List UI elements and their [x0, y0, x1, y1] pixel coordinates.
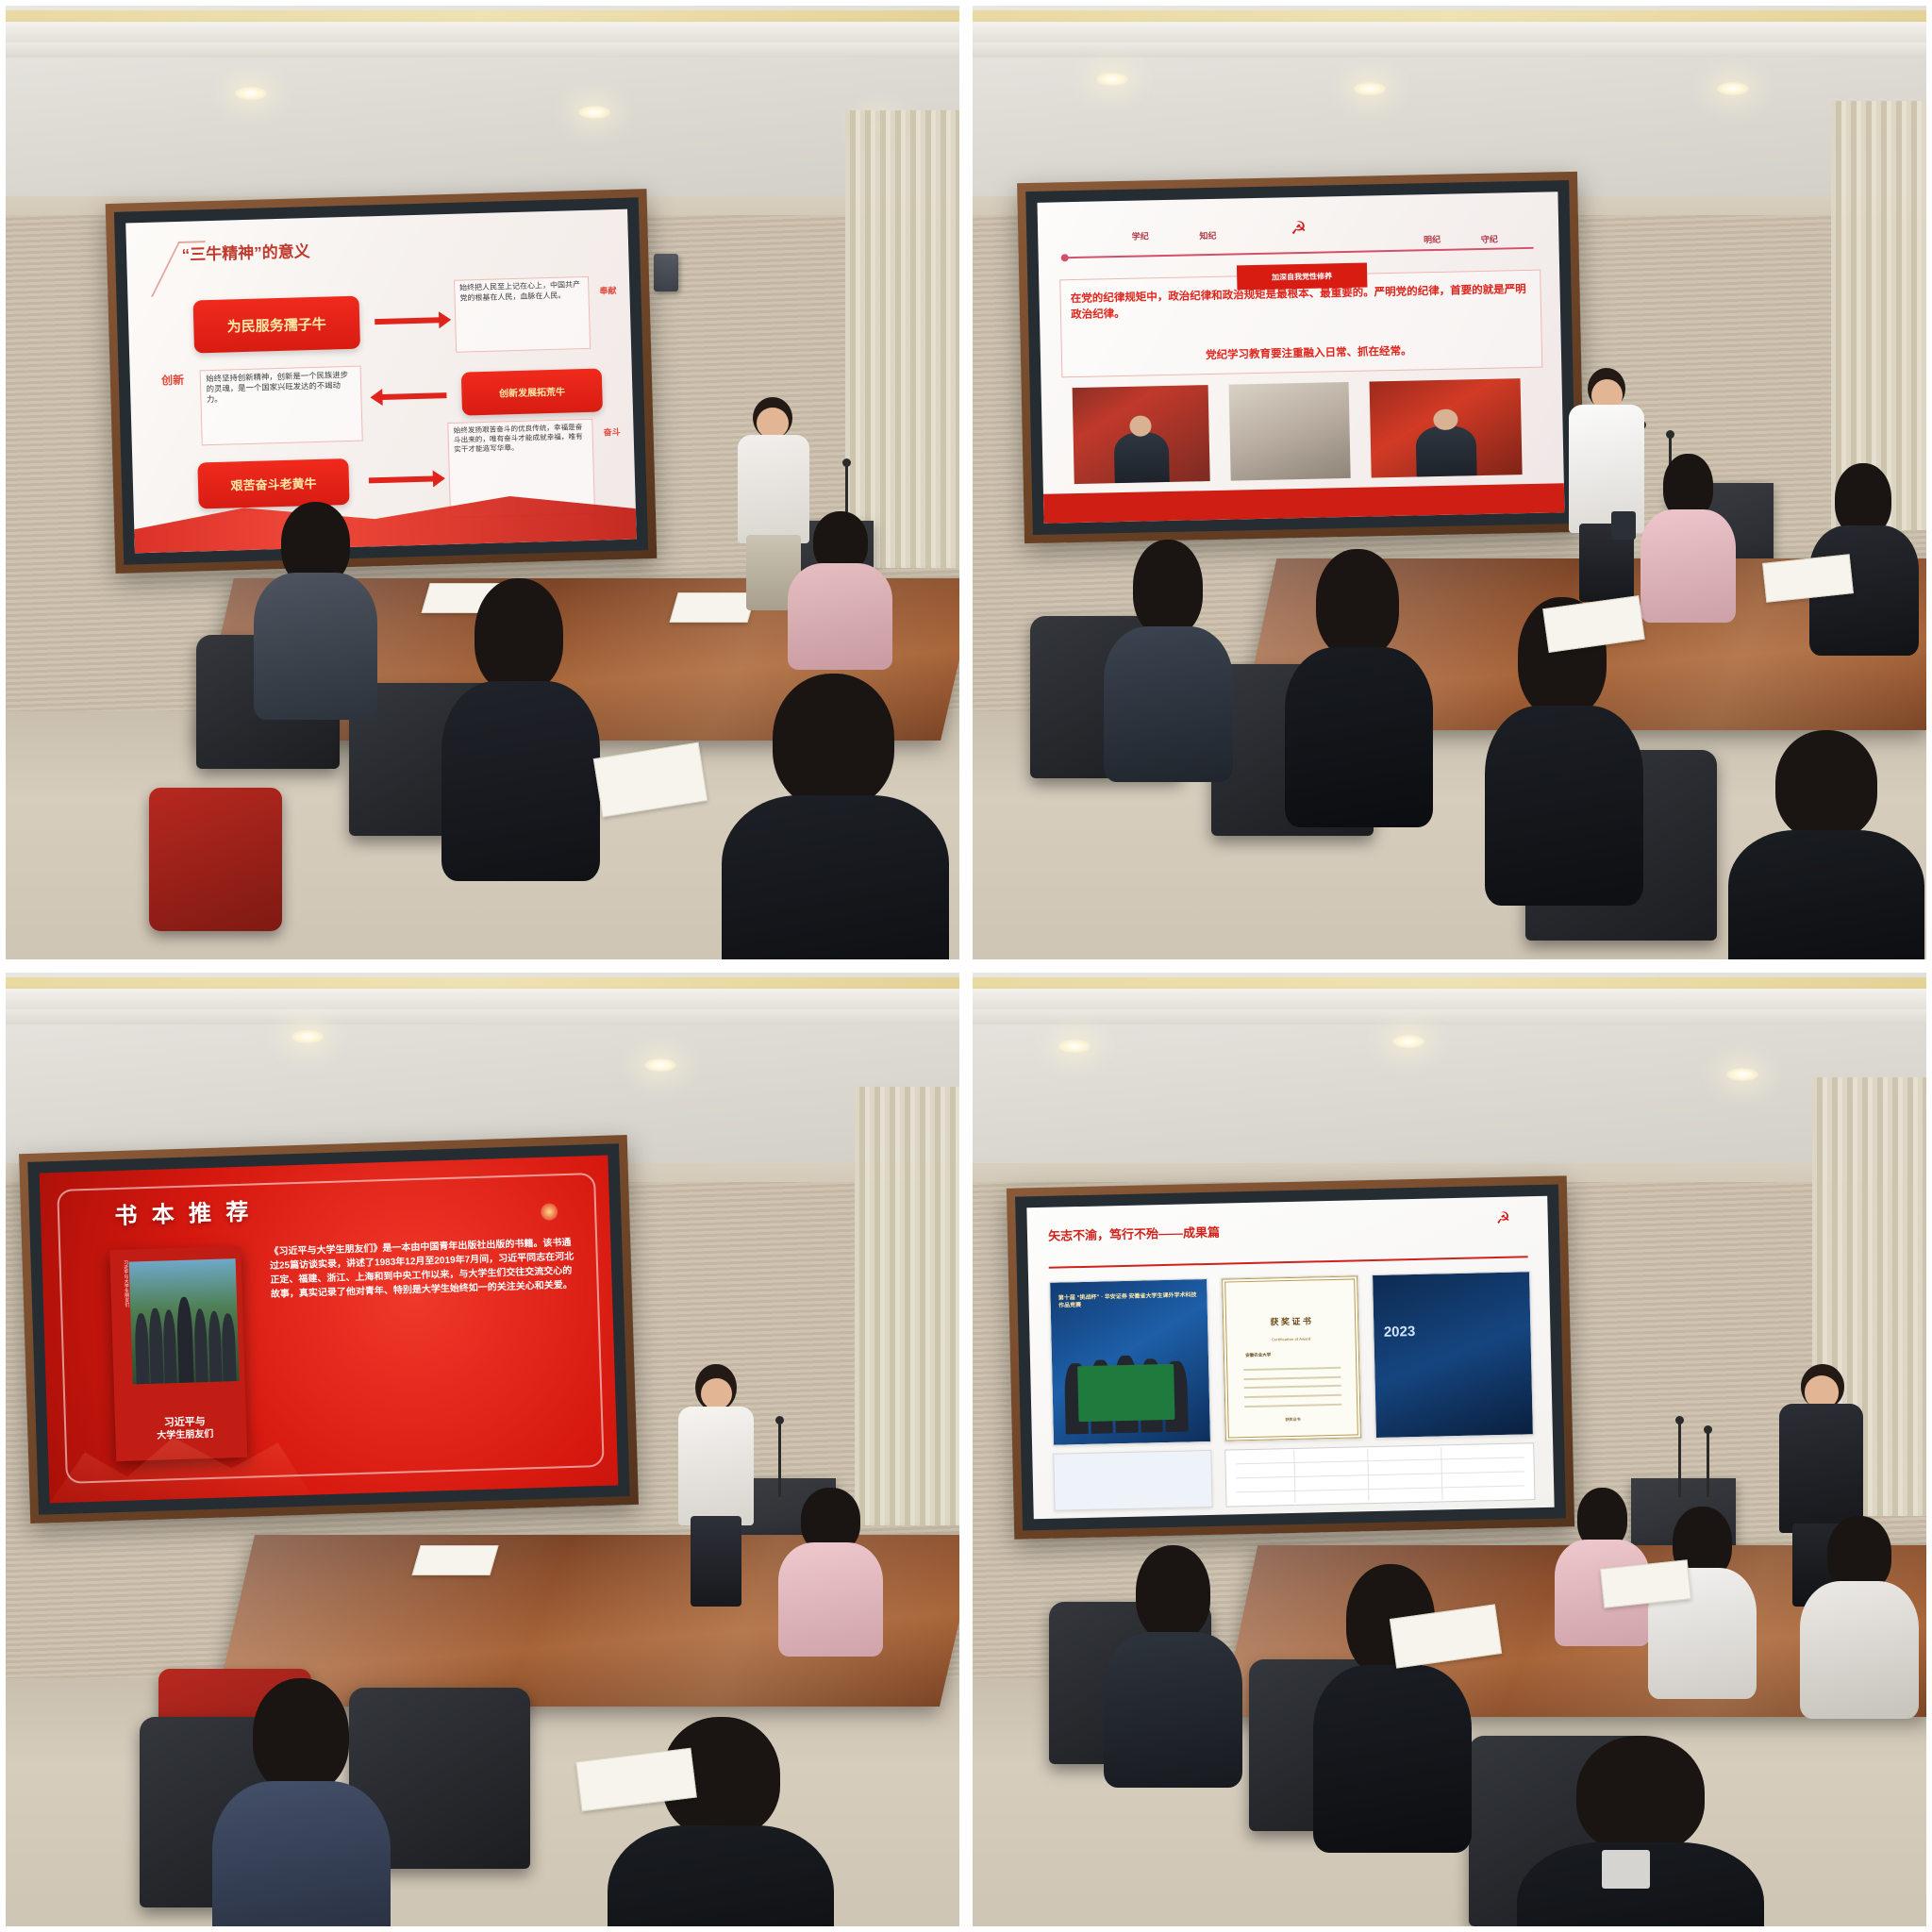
figure-icon: [176, 1297, 194, 1383]
attendee-torso: [1728, 830, 1924, 960]
attendee: [1736, 730, 1917, 959]
microphone-icon: [1678, 1421, 1681, 1497]
attendee: [616, 1717, 825, 1926]
card-3-year: 2023: [1384, 1324, 1416, 1341]
figure-icon: [1415, 425, 1476, 476]
attendee-pink: [778, 1488, 883, 1650]
achievement-table: [1225, 1442, 1536, 1507]
party-emblem-icon: ☭: [1496, 1209, 1511, 1228]
downlight-icon: [235, 87, 267, 100]
book-cover-photo: [129, 1258, 241, 1384]
ceiling-soffit: [973, 22, 1926, 44]
attendee-head: [475, 578, 563, 692]
achievement-card-3: 2023: [1373, 1272, 1535, 1439]
attendee: [1288, 549, 1431, 807]
led-screen-2: 学纪 知纪 ☭ 明纪 守纪 加深自我党性修养 在党的纪律规矩中，政治纪律和政治规…: [1017, 172, 1585, 543]
downlight-icon: [578, 106, 610, 119]
attendee-head: [1316, 549, 1399, 658]
attendee-torso: [788, 563, 892, 670]
figure-icon: [148, 1307, 163, 1384]
achievement-card-4: [1054, 1450, 1213, 1511]
downlight-icon: [1726, 1068, 1758, 1081]
attendee-head: [253, 1678, 349, 1792]
book-description: 《习近平与大学生朋友们》是一本由中国青年出版社出版的书籍。该书通过25篇访谈实录…: [270, 1236, 578, 1302]
presenter-2: [1564, 368, 1650, 597]
label-struggle: 奋斗: [604, 427, 621, 439]
attendee-torso: [608, 1825, 834, 1926]
figure-head-icon: [1433, 408, 1457, 430]
ceiling-soffit-lower: [6, 1009, 959, 1024]
card-2-title: 获 奖 证 书: [1238, 1314, 1345, 1329]
card-4-title: 获奖证书: [1240, 1416, 1347, 1424]
attendee-torso: [212, 1781, 391, 1926]
cert-line: [1244, 1404, 1341, 1407]
attendee-torso: [1800, 1581, 1919, 1719]
ceiling-soffit: [6, 22, 959, 44]
attendee-dark: [1812, 463, 1917, 644]
handheld-device: [1611, 511, 1635, 540]
cert-line: [1244, 1386, 1341, 1390]
card-2-org: 安徽农业大学: [1246, 1351, 1354, 1359]
attendee-head: [1136, 1545, 1210, 1641]
slide-3-surface: 书 本 推 荐 习近平与大学生朋友们: [40, 1156, 619, 1504]
figure-icon: [208, 1311, 223, 1383]
ceiling-soffit-lower: [973, 42, 1926, 58]
university-flag: [1077, 1365, 1175, 1423]
photo-panel-2: 学纪 知纪 ☭ 明纪 守纪 加深自我党性修养 在党的纪律规矩中，政治纪律和政治规…: [973, 6, 1926, 959]
book-cover-title: 习近平与 大学生朋友们: [128, 1415, 241, 1444]
presenter-body: [678, 1407, 754, 1525]
attendee: [730, 674, 940, 959]
figure-icon: [193, 1308, 208, 1382]
downlight-icon: [1096, 73, 1128, 86]
attendee: [1803, 1516, 1917, 1707]
curtain: [855, 1087, 959, 1525]
attendee-torso: [441, 681, 600, 881]
book-title-main: 习近平与: [164, 1416, 206, 1428]
arrow-right-1: [375, 317, 440, 325]
attendee-head: [1576, 1736, 1705, 1854]
downlight-icon: [1717, 82, 1749, 95]
title-rule: [1049, 1256, 1528, 1269]
curtain: [845, 110, 959, 568]
figure-icon: [222, 1313, 237, 1382]
attendee: [1525, 1736, 1755, 1926]
presenter-face: [757, 408, 790, 439]
attendee-torso: [1285, 647, 1434, 827]
microphone-icon: [778, 1421, 781, 1497]
presenter-legs: [691, 1516, 742, 1607]
ceiling-soffit-lower: [973, 1009, 1926, 1024]
attendee: [254, 502, 377, 711]
figure-icon: [1113, 432, 1169, 483]
party-emblem-icon: ☭: [1290, 220, 1306, 238]
attendee-torso: [1104, 1632, 1242, 1788]
downlight-icon: [291, 1030, 324, 1043]
slide-2-surface: 学纪 知纪 ☭ 明纪 守纪 加深自我党性修养 在党的纪律规矩中，政治纪律和政治规…: [1037, 192, 1564, 523]
smartphone: [1602, 1850, 1650, 1888]
attendee-pink: [788, 511, 892, 664]
photo-panel-4: 矢志不渝，笃行不殆——成果篇 ☭ 第十届 “挑战杯” · 华安证券 安徽省大学生…: [973, 973, 1926, 1926]
attendee-head: [1775, 730, 1877, 840]
table-row: [1236, 1457, 1524, 1465]
photo-collage: “三牛精神”的意义 为民服务孺子牛 始终把人民至上记在心上，中国共产党的根基在人…: [0, 0, 1932, 1932]
nav-item-shouji: 守纪: [1480, 233, 1497, 245]
attendee-torso: [1104, 626, 1233, 782]
presenter-face: [701, 1378, 732, 1409]
book-title-sub: 大学生朋友们: [157, 1429, 213, 1441]
pill-innovation-ox: 创新发展拓荒牛: [461, 369, 603, 416]
pill-serve-people: 为民服务孺子牛: [193, 296, 360, 354]
slide-bottom-strip: [1043, 484, 1565, 524]
microphone-icon: [1707, 1430, 1709, 1497]
ceiling-soffit: [973, 989, 1926, 1011]
slide-1-surface: “三牛精神”的意义 为民服务孺子牛 始终把人民至上记在心上，中国共产党的根基在人…: [125, 209, 637, 554]
arrow-left-1: [382, 392, 447, 400]
screen-bezel: 书 本 推 荐 习近平与大学生朋友们: [27, 1143, 629, 1515]
slide-title: “三牛精神”的意义: [181, 238, 310, 265]
screen-bezel: 矢志不渝，笃行不殆——成果篇 ☭ 第十届 “挑战杯” · 华安证券 安徽省大学生…: [1015, 1185, 1566, 1531]
cert-line: [1243, 1367, 1341, 1371]
attendee-pink: [1641, 454, 1736, 616]
figure-icon: [135, 1313, 150, 1385]
attendee: [1107, 540, 1230, 769]
downlight-icon: [1354, 82, 1386, 95]
slide-4-surface: 矢志不渝，笃行不殆——成果篇 ☭ 第十届 “挑战杯” · 华安证券 安徽省大学生…: [1027, 1196, 1556, 1519]
attendee: [444, 578, 597, 864]
arrow-right-2: [369, 475, 434, 483]
photo-thumb-1: [1072, 385, 1209, 484]
attendee-head: [773, 674, 894, 808]
screen-bezel: 学纪 知纪 ☭ 明纪 守纪 加深自我党性修养 在党的纪律规矩中，政治纪律和政治规…: [1025, 180, 1576, 535]
nav-item-zhiji: 知纪: [1199, 229, 1216, 241]
certificate: 获 奖 证 书 Certification of Award 安徽农业大学 获奖…: [1223, 1276, 1361, 1441]
led-screen-4: 矢志不渝，笃行不殆——成果篇 ☭ 第十届 “挑战杯” · 华安证券 安徽省大学生…: [1007, 1176, 1575, 1540]
slide-title: 矢志不渝，笃行不殆——成果篇: [1048, 1223, 1220, 1244]
attendee-torso: [1641, 509, 1736, 623]
photo-thumb-3: [1369, 378, 1522, 477]
attendee-torso: [1313, 1665, 1472, 1852]
nav-item-xueji: 学纪: [1131, 229, 1148, 241]
attendee: [1107, 1545, 1241, 1774]
box-innovation: 始终坚持创新精神，创新是一个民族进步的灵魂，是一个国家兴旺发达的不竭动力。: [200, 365, 362, 445]
achievement-card-1: 第十届 “挑战杯” · 华安证券 安徽省大学生课外学术科技作品竞赛: [1050, 1279, 1212, 1446]
cert-line: [1244, 1394, 1341, 1398]
led-screen-1: “三牛精神”的意义 为民服务孺子牛 始终把人民至上记在心上，中国共产党的根基在人…: [106, 189, 658, 574]
nav-item-mingji: 明纪: [1423, 233, 1440, 245]
attendee-head: [1133, 540, 1203, 636]
chair-red: [149, 788, 283, 931]
slide-title: 书 本 推 荐: [114, 1192, 253, 1230]
book-cover: 习近平与大学生朋友们 习近平与 大学生朋友们: [110, 1246, 248, 1461]
photo-thumb-2: [1228, 382, 1350, 481]
screen-bezel: “三牛精神”的意义 为民服务孺子牛 始终把人民至上记在心上，中国共产党的根基在人…: [114, 197, 648, 564]
ceiling-soffit: [6, 989, 959, 1011]
led-screen-3: 书 本 推 荐 习近平与大学生朋友们: [19, 1135, 639, 1524]
presenter-3: [674, 1364, 759, 1603]
cert-line: [1244, 1376, 1341, 1380]
attendee-torso: [1485, 706, 1643, 906]
label-innovation: 创新: [155, 374, 191, 389]
achievement-card-2: 获 奖 证 书 Certification of Award 安徽农业大学 获奖…: [1222, 1275, 1362, 1442]
downlight-icon: [1058, 1040, 1091, 1053]
table-row: [1236, 1472, 1524, 1479]
attendee-pink: [1555, 1488, 1650, 1641]
photo-panel-1: “三牛精神”的意义 为民服务孺子牛 始终把人民至上记在心上，中国共产党的根基在人…: [6, 6, 959, 959]
attendee-torso: [722, 795, 948, 959]
attendee: [1316, 1564, 1469, 1831]
box-serve-people: 始终把人民至上记在心上，中国共产党的根基在人民，血脉在人民。: [454, 276, 591, 353]
attendee-torso: [254, 573, 377, 720]
downlight-icon: [1392, 1035, 1424, 1048]
nav-rule: [1064, 247, 1533, 258]
notebook: [411, 1545, 498, 1575]
attendee-torso: [778, 1542, 883, 1656]
photo-panel-3: 书 本 推 荐 习近平与大学生朋友们: [6, 973, 959, 1926]
attendee: [215, 1678, 387, 1926]
presenter-body: [1779, 1404, 1863, 1532]
ceiling-soffit-lower: [6, 42, 959, 58]
card-2-subtitle: Certification of Award: [1238, 1336, 1345, 1343]
figure-icon: [162, 1309, 177, 1383]
label-contribution: 奉献: [600, 286, 617, 297]
wall-speaker-icon: [654, 254, 678, 291]
table-row: [1237, 1486, 1525, 1493]
